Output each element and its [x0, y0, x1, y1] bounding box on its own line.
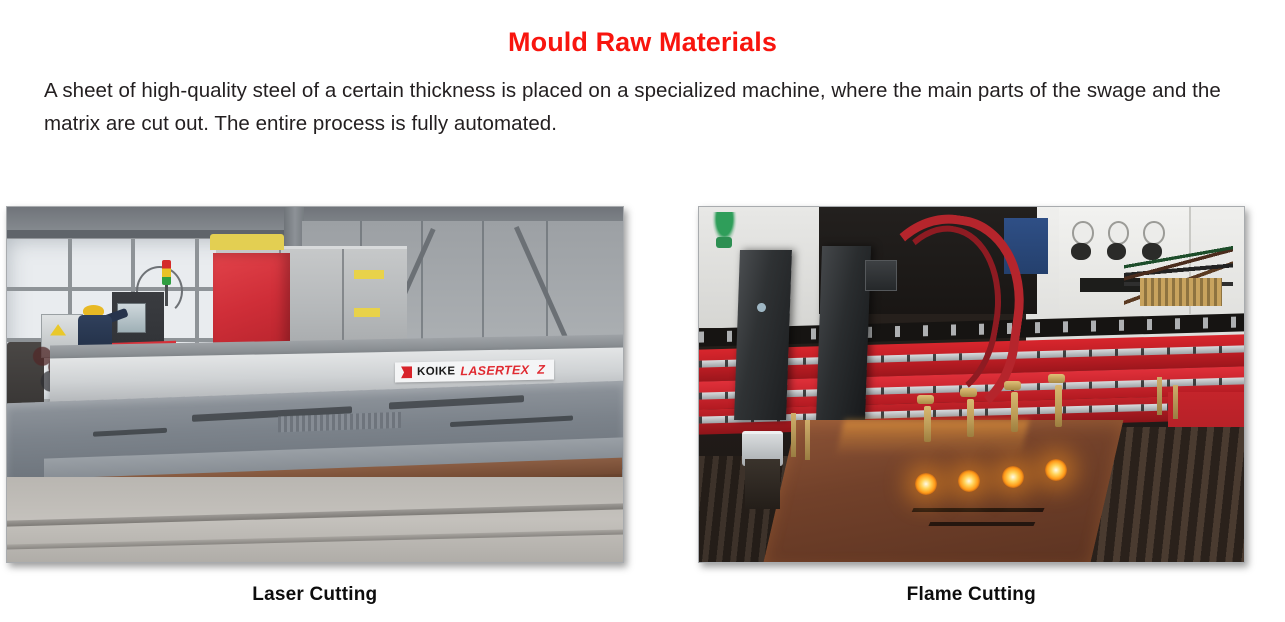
caption-laser-cutting: Laser Cutting	[6, 584, 624, 606]
valve-stem	[805, 420, 810, 460]
valve-stem	[791, 413, 796, 457]
photo-flame-cutting	[698, 206, 1245, 563]
torch-head	[1004, 381, 1021, 390]
valve-stem	[1173, 385, 1178, 419]
figure-laser-cutting: KOIKE LASERTEX Z Laser Cutting	[6, 206, 624, 606]
intro-paragraph: A sheet of high-quality steel of a certa…	[0, 58, 1285, 140]
brand-model: LASERTEX	[460, 363, 529, 378]
koike-logo-icon	[401, 367, 412, 379]
terminal-block	[1140, 278, 1222, 306]
cutting-flame	[958, 470, 980, 492]
green-fixture-base	[716, 237, 732, 248]
torch-body	[924, 406, 931, 442]
signal-tower-lamp	[162, 260, 171, 285]
figure-row: KOIKE LASERTEX Z Laser Cutting	[0, 190, 1285, 622]
brand-series: Z	[537, 363, 545, 377]
signal-tower-pole	[165, 285, 168, 306]
carriage-cover-left	[734, 250, 792, 420]
caption-flame-cutting: Flame Cutting	[698, 584, 1245, 606]
valve-stem	[1157, 377, 1162, 415]
cut-heat-glow	[836, 420, 1030, 456]
valve-port	[1071, 243, 1091, 261]
figure-flame-cutting: Flame Cutting	[698, 206, 1245, 606]
gas-canister-body	[745, 459, 780, 509]
torch-head	[917, 395, 934, 404]
machine-brand-plate: KOIKE LASERTEX Z	[395, 360, 554, 383]
torch-head	[1048, 374, 1065, 383]
torch-body	[967, 399, 974, 437]
page-title: Mould Raw Materials	[0, 0, 1285, 58]
cutting-flame	[915, 473, 937, 495]
brand-name: KOIKE	[417, 366, 455, 379]
torch-head	[960, 388, 977, 397]
torch-body	[1011, 392, 1018, 432]
torch-body	[1055, 385, 1062, 427]
photo-laser-cutting: KOIKE LASERTEX Z	[6, 206, 624, 563]
cutting-flame	[1002, 466, 1024, 488]
cabinet-hood	[210, 234, 284, 250]
valve-knob	[1072, 221, 1093, 245]
